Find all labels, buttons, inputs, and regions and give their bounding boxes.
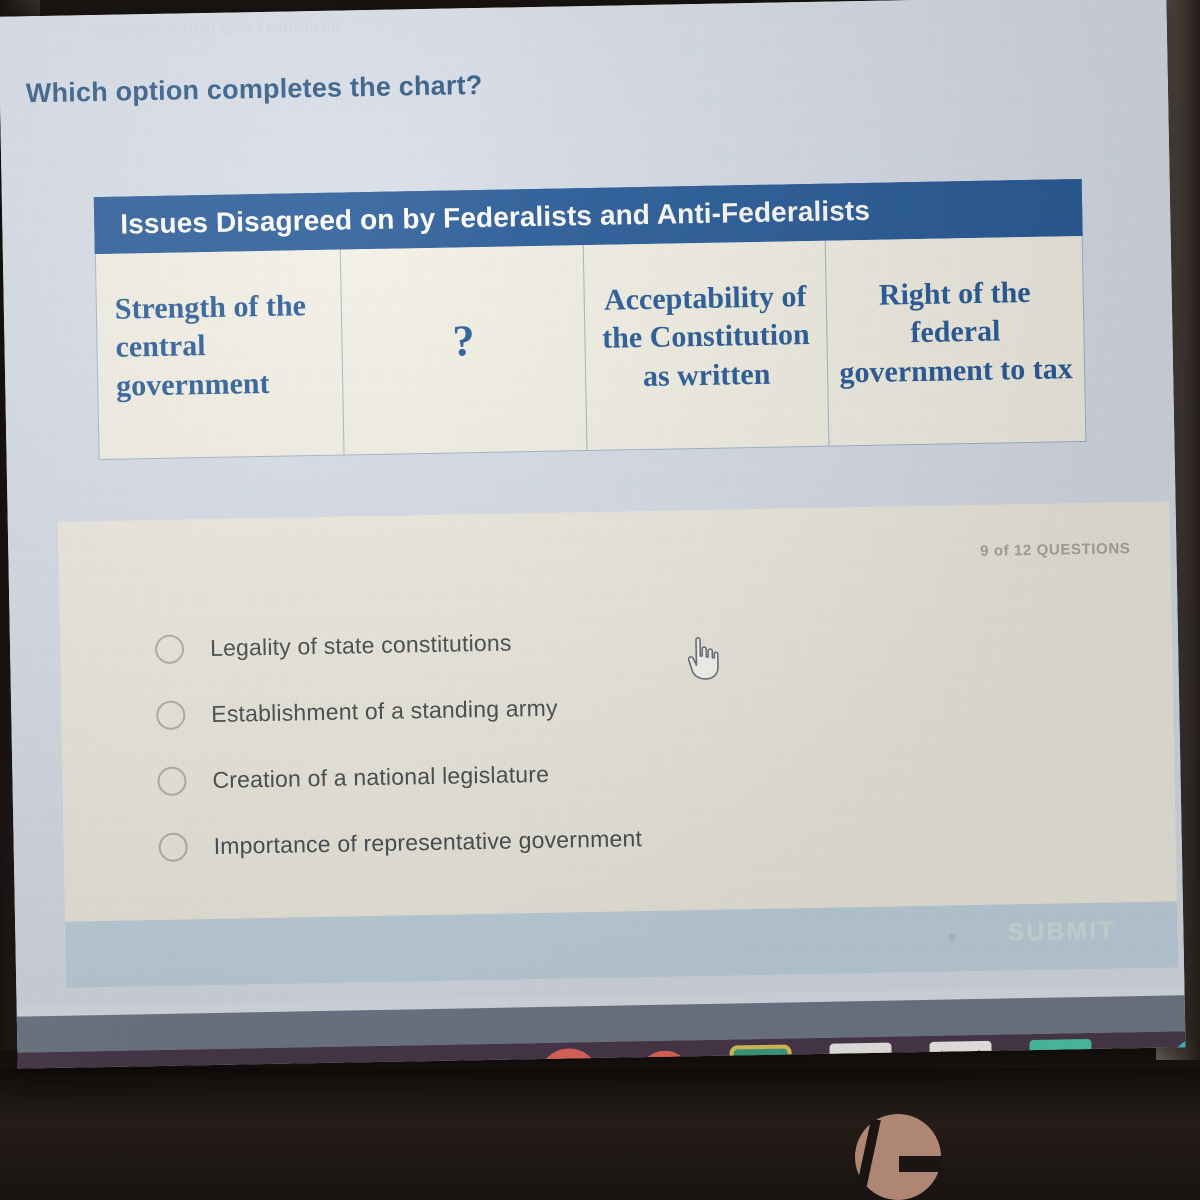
answer-options-list: Legality of state constitutions Establis… <box>154 600 1039 880</box>
table-cell-tax: Right of the federal government to tax <box>826 236 1086 446</box>
gmail-envelope-glyph <box>936 1055 987 1069</box>
table-row: Strength of the central government ? Acc… <box>95 236 1087 460</box>
chart-table: Issues Disagreed on by Federalists and A… <box>94 179 1087 460</box>
page-title: Which option completes the chart? <box>26 70 483 109</box>
answer-option-label: Establishment of a standing army <box>211 694 558 727</box>
shelf-divider <box>1130 1049 1133 1068</box>
table-cell-strength: Strength of the central government <box>96 250 345 459</box>
quiz-page: Which option completes the chart? Issues… <box>0 0 1184 1007</box>
gmail-left-stroke <box>937 1050 959 1069</box>
gmail-right-stroke <box>964 1049 985 1068</box>
laptop-screen: Which option completes the chart? Issues… <box>0 0 1186 1069</box>
table-cell-acceptability: Acceptability of the Constitution as wri… <box>584 241 830 450</box>
submit-bar-dot <box>948 933 955 940</box>
chrome-icon[interactable] <box>537 1048 600 1069</box>
radio-button-icon[interactable] <box>155 634 185 664</box>
chrome-icon-ring <box>537 1048 600 1069</box>
radio-button-icon[interactable] <box>156 700 186 730</box>
google-classroom-icon[interactable] <box>729 1044 792 1068</box>
qr-code-icon[interactable] <box>829 1043 892 1069</box>
chrome-icon[interactable] <box>638 1050 693 1068</box>
chrome-icon-ring <box>638 1050 693 1068</box>
answer-option-label: Importance of representative government <box>213 825 642 860</box>
answer-option-label: Creation of a national legislature <box>212 760 549 793</box>
edgenuity-icon[interactable]: E <box>1029 1039 1092 1069</box>
radio-button-icon[interactable] <box>158 832 188 862</box>
hp-logo <box>855 1114 941 1200</box>
edgenuity-letter-glyph: E <box>1042 1049 1069 1068</box>
copyright-text: Copyright © 2020 Apex Learning Inc. <box>95 18 348 40</box>
question-progress: 9 of 12 QUESTIONS <box>980 540 1131 560</box>
laptop-photo: Which option completes the chart? Issues… <box>0 0 1200 1200</box>
submit-button[interactable]: SUBMIT <box>1007 916 1115 947</box>
radio-button-icon[interactable] <box>157 766 187 796</box>
answer-option-label: Legality of state constitutions <box>210 629 512 662</box>
gmail-icon[interactable] <box>929 1041 992 1069</box>
pointer-hand-cursor <box>682 634 723 683</box>
table-cell-missing: ? <box>341 245 588 454</box>
screen-bezel-bottom <box>0 1068 1200 1200</box>
answer-panel: 9 of 12 QUESTIONS Legality of state cons… <box>58 501 1177 921</box>
